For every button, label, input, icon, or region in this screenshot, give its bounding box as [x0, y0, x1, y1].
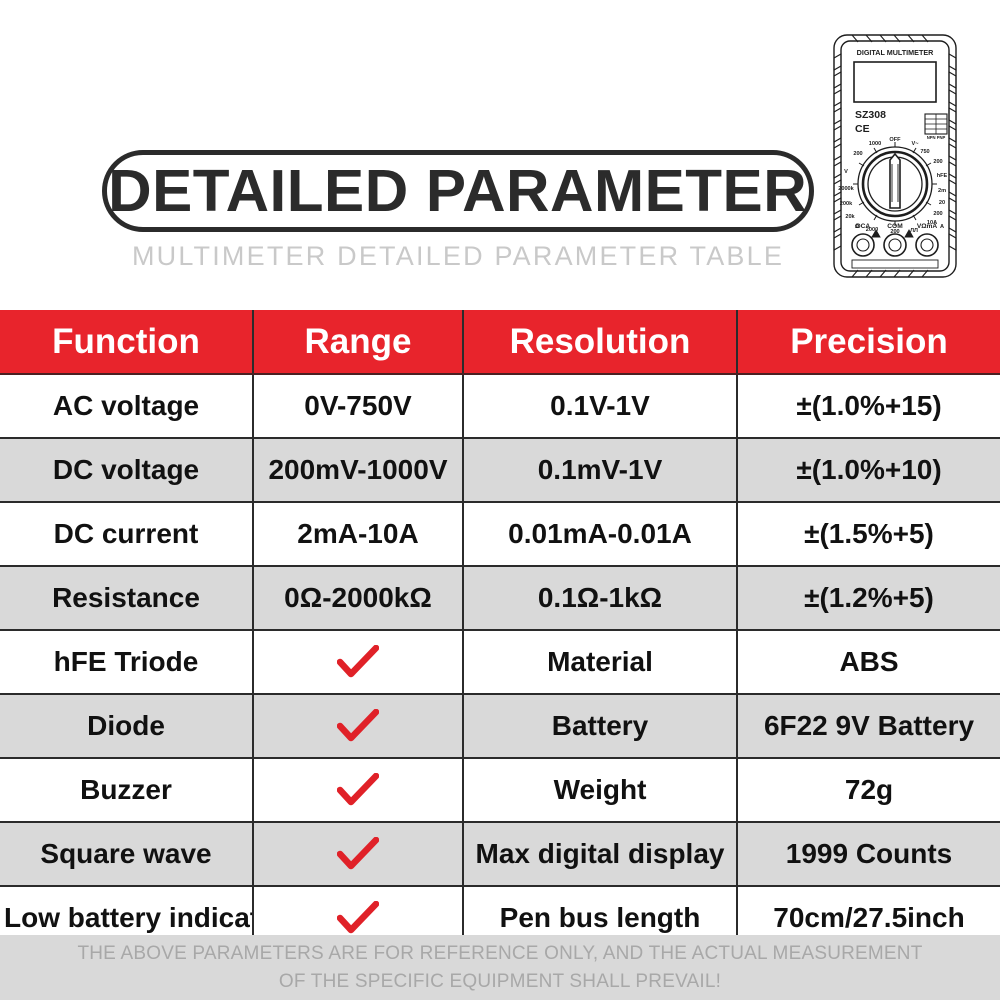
cell-function: Square wave [0, 822, 253, 886]
cell-precision: 1999 Counts [737, 822, 1000, 886]
table-row: Resistance0Ω-2000kΩ0.1Ω-1kΩ±(1.2%+5) [0, 566, 1000, 630]
footer-line-2: OF THE SPECIFIC EQUIPMENT SHALL PREVAIL! [279, 968, 721, 996]
check-icon [337, 837, 379, 871]
footer-disclaimer: THE ABOVE PARAMETERS ARE FOR REFERENCE O… [0, 935, 1000, 1000]
column-header-range: Range [253, 310, 463, 374]
cell-precision: ±(1.0%+15) [737, 374, 1000, 438]
cell-function: AC voltage [0, 374, 253, 438]
cell-range: 0V-750V [253, 374, 463, 438]
table-row: AC voltage0V-750V0.1V-1V±(1.0%+15) [0, 374, 1000, 438]
svg-text:V~: V~ [912, 141, 920, 147]
cell-function: DC current [0, 502, 253, 566]
cell-precision: ±(1.2%+5) [737, 566, 1000, 630]
cell-precision: 6F22 9V Battery [737, 694, 1000, 758]
device-model: SZ308 [855, 109, 886, 121]
cell-precision: ABS [737, 630, 1000, 694]
svg-text:A: A [940, 224, 944, 230]
cell-resolution: 0.1Ω-1kΩ [463, 566, 737, 630]
multimeter-illustration: DIGITAL MULTIMETER SZ308 CE OFF 1000 200… [832, 32, 958, 280]
cell-precision: 72g [737, 758, 1000, 822]
cell-resolution: 0.1V-1V [463, 374, 737, 438]
page-subtitle: MULTIMETER DETAILED PARAMETER TABLE [102, 241, 814, 272]
table-row: DiodeBattery6F22 9V Battery [0, 694, 1000, 758]
check-icon [337, 645, 379, 679]
cell-resolution: Weight [463, 758, 737, 822]
svg-text:200: 200 [933, 159, 942, 165]
cell-range: 0Ω-2000kΩ [253, 566, 463, 630]
table-row: DC current2mA-10A0.01mA-0.01A±(1.5%+5) [0, 502, 1000, 566]
cell-range-check [253, 822, 463, 886]
cell-range-check [253, 630, 463, 694]
cell-range-check [253, 758, 463, 822]
svg-text:200: 200 [853, 151, 862, 157]
cell-function: hFE Triode [0, 630, 253, 694]
cell-precision: ±(1.5%+5) [737, 502, 1000, 566]
cell-precision: ±(1.0%+10) [737, 438, 1000, 502]
check-icon [337, 709, 379, 743]
cell-function: DC voltage [0, 438, 253, 502]
parameter-table: Function Range Resolution Precision AC v… [0, 310, 1000, 949]
svg-text:200k: 200k [840, 201, 853, 207]
cell-resolution: 0.1mV-1V [463, 438, 737, 502]
device-brand-label: DIGITAL MULTIMETER [857, 48, 934, 57]
cell-resolution: Max digital display [463, 822, 737, 886]
table-header-row: Function Range Resolution Precision [0, 310, 1000, 374]
svg-text:2m: 2m [938, 188, 946, 194]
cell-resolution: 0.01mA-0.01A [463, 502, 737, 566]
column-header-resolution: Resolution [463, 310, 737, 374]
device-ce-mark: CE [855, 123, 870, 135]
title-block: DETAILED PARAMETER MULTIMETER DETAILED P… [102, 150, 814, 272]
cell-range: 2mA-10A [253, 502, 463, 566]
svg-text:20k: 20k [845, 214, 855, 220]
title-pill: DETAILED PARAMETER [102, 150, 814, 232]
column-header-function: Function [0, 310, 253, 374]
svg-text:200: 200 [933, 211, 942, 217]
jack-label-vohm: VΩmA [917, 223, 938, 230]
cell-function: Resistance [0, 566, 253, 630]
svg-text:hFE: hFE [937, 173, 948, 179]
cell-resolution: Material [463, 630, 737, 694]
cell-resolution: Battery [463, 694, 737, 758]
table-row: BuzzerWeight72g [0, 758, 1000, 822]
svg-text:V: V [844, 169, 848, 175]
svg-text:1000: 1000 [869, 141, 881, 147]
check-icon [337, 773, 379, 807]
table-row: DC voltage200mV-1000V0.1mV-1V±(1.0%+10) [0, 438, 1000, 502]
dial-label-off: OFF [889, 137, 901, 143]
cell-function: Diode [0, 694, 253, 758]
table-body: AC voltage0V-750V0.1V-1V±(1.0%+15)DC vol… [0, 374, 1000, 949]
check-icon [337, 901, 379, 935]
table-row: Square waveMax digital display1999 Count… [0, 822, 1000, 886]
column-header-precision: Precision [737, 310, 1000, 374]
cell-range: 200mV-1000V [253, 438, 463, 502]
svg-text:NPN PNP: NPN PNP [927, 135, 946, 140]
jack-label-com: COM [887, 223, 903, 230]
footer-line-1: THE ABOVE PARAMETERS ARE FOR REFERENCE O… [77, 940, 922, 968]
page-title: DETAILED PARAMETER [108, 162, 807, 221]
table-row: hFE TriodeMaterialABS [0, 630, 1000, 694]
svg-text:20: 20 [939, 200, 945, 206]
svg-text:750: 750 [920, 149, 929, 155]
top-banner: DETAILED PARAMETER MULTIMETER DETAILED P… [0, 0, 1000, 310]
cell-function: Buzzer [0, 758, 253, 822]
jack-label-dca: DCA [856, 223, 871, 230]
svg-text:2000k: 2000k [838, 186, 854, 192]
cell-range-check [253, 694, 463, 758]
